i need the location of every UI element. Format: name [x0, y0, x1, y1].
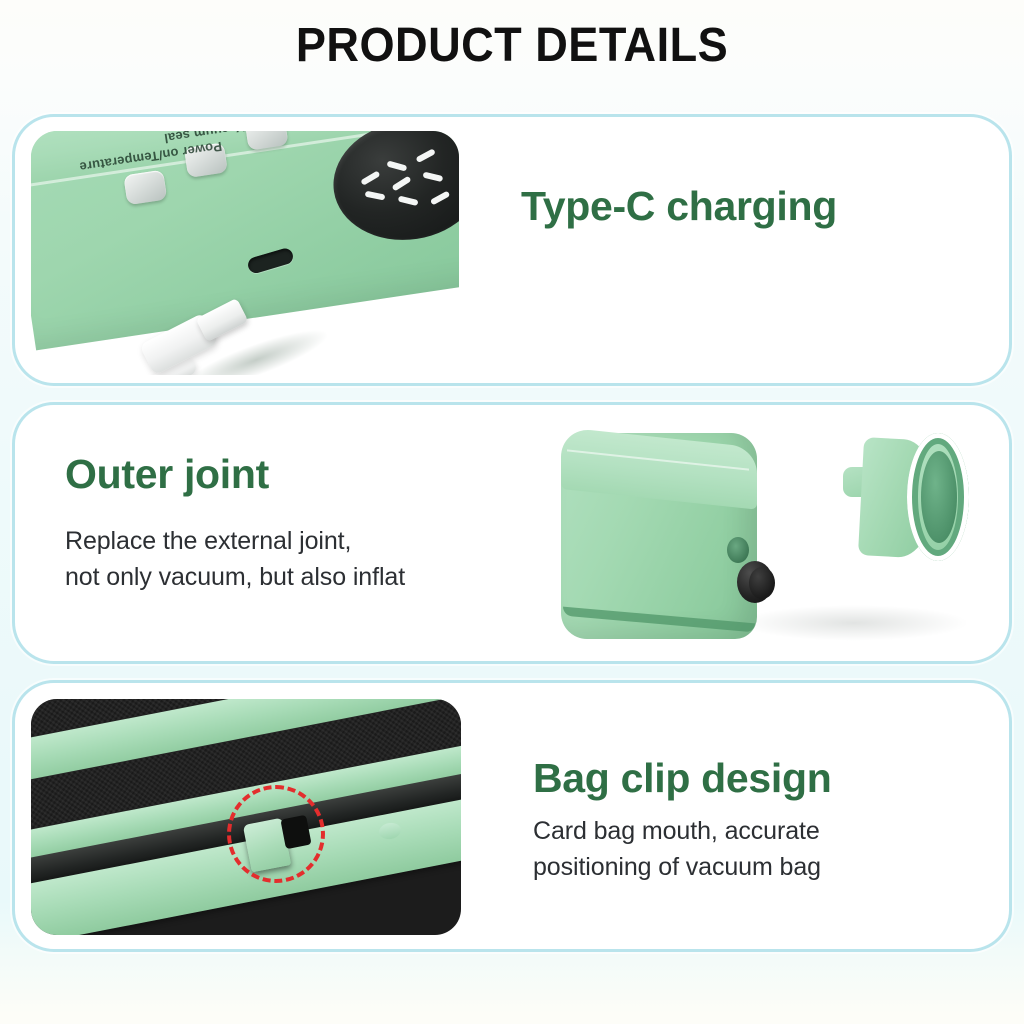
- feature-text-type-c-charging: Type-C charging: [521, 183, 951, 230]
- feature-card-outer-joint: Outer joint Replace the external joint, …: [12, 402, 1012, 664]
- led-display: [325, 131, 459, 250]
- usb-c-port: [246, 247, 295, 275]
- outer-joint-photo: [539, 415, 979, 655]
- product-shadow: [739, 605, 969, 641]
- feature-heading: Bag clip design: [533, 755, 953, 802]
- feature-text-outer-joint: Outer joint Replace the external joint, …: [65, 451, 535, 595]
- feature-heading: Type-C charging: [521, 183, 951, 230]
- page-title: PRODUCT DETAILS: [31, 18, 994, 73]
- bag-clip-photo: [31, 699, 461, 935]
- control-button[interactable]: [123, 170, 167, 206]
- feature-body-line: Replace the external joint,: [65, 524, 535, 560]
- nozzle-inner-opening: [921, 451, 957, 543]
- joint-port-hole: [727, 537, 749, 563]
- feature-card-type-c-charging: Power on/Temperature Vacuum seal Seal it…: [12, 114, 1012, 386]
- feature-body-line: not only vacuum, but also inflat: [65, 560, 535, 596]
- feature-text-bag-clip-design: Bag clip design Card bag mouth, accurate…: [533, 755, 953, 885]
- red-dashed-highlight-circle: [227, 785, 325, 883]
- feature-body-line: Card bag mouth, accurate: [533, 814, 953, 850]
- feature-card-bag-clip-design: Bag clip design Card bag mouth, accurate…: [12, 680, 1012, 952]
- black-plug-highlight: [749, 567, 775, 599]
- feature-heading: Outer joint: [65, 451, 535, 498]
- type-c-port-and-cable-photo: Power on/Temperature Vacuum seal Seal it…: [31, 131, 459, 375]
- sealing-channel-graphic: [31, 699, 461, 935]
- feature-body-line: positioning of vacuum bag: [533, 850, 953, 886]
